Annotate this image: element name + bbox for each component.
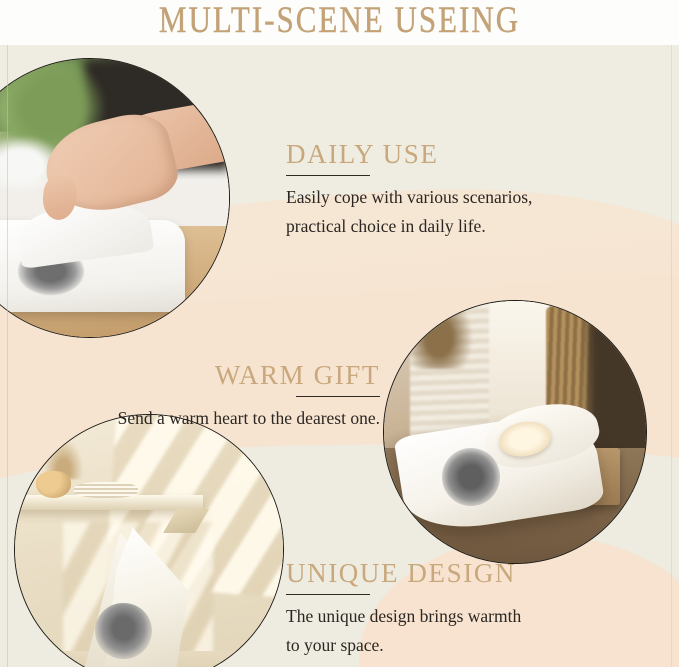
heading-rule-unique-design xyxy=(286,594,370,595)
photo-daily-use xyxy=(0,58,230,338)
feature-heading-unique-design: UNIQUE DESIGN xyxy=(286,560,521,587)
feature-body-unique-design-line1: The unique design brings warmth xyxy=(286,602,521,630)
photo-unique-design xyxy=(14,414,284,667)
product-feature-image: MULTI-SCENE USEING xyxy=(0,0,679,667)
feature-body-daily-use-line2: practical choice in daily life. xyxy=(286,212,532,240)
photo-unique-design-plates xyxy=(74,482,138,498)
photo-daily-use-scene xyxy=(0,59,229,337)
feature-heading-warm-gift: WARM GIFT xyxy=(0,362,380,389)
photo-unique-design-scene xyxy=(15,415,283,667)
photo-warm-gift-dried-flowers xyxy=(405,300,473,369)
heading-rule-warm-gift xyxy=(296,396,380,397)
photo-unique-design-vase xyxy=(36,471,71,498)
feature-block-warm-gift: WARM GIFT Send a warm heart to the deare… xyxy=(0,362,380,433)
photo-unique-design-animal-print xyxy=(95,603,151,659)
feature-body-unique-design-line2: to your space. xyxy=(286,631,521,659)
photo-warm-gift xyxy=(383,300,647,564)
feature-body-daily-use-line1: Easily cope with various scenarios, xyxy=(286,183,532,211)
content-canvas: DAILY USE Easily cope with various scena… xyxy=(0,44,679,667)
feature-block-unique-design: UNIQUE DESIGN The unique design brings w… xyxy=(286,560,521,659)
page-title: MULTI-SCENE USEING xyxy=(0,0,679,45)
heading-rule-daily-use xyxy=(286,175,370,176)
feature-body-warm-gift-line1: Send a warm heart to the dearest one. xyxy=(0,404,380,432)
feature-heading-daily-use: DAILY USE xyxy=(286,141,532,168)
feature-block-daily-use: DAILY USE Easily cope with various scena… xyxy=(286,141,532,240)
photo-warm-gift-scene xyxy=(384,301,646,563)
